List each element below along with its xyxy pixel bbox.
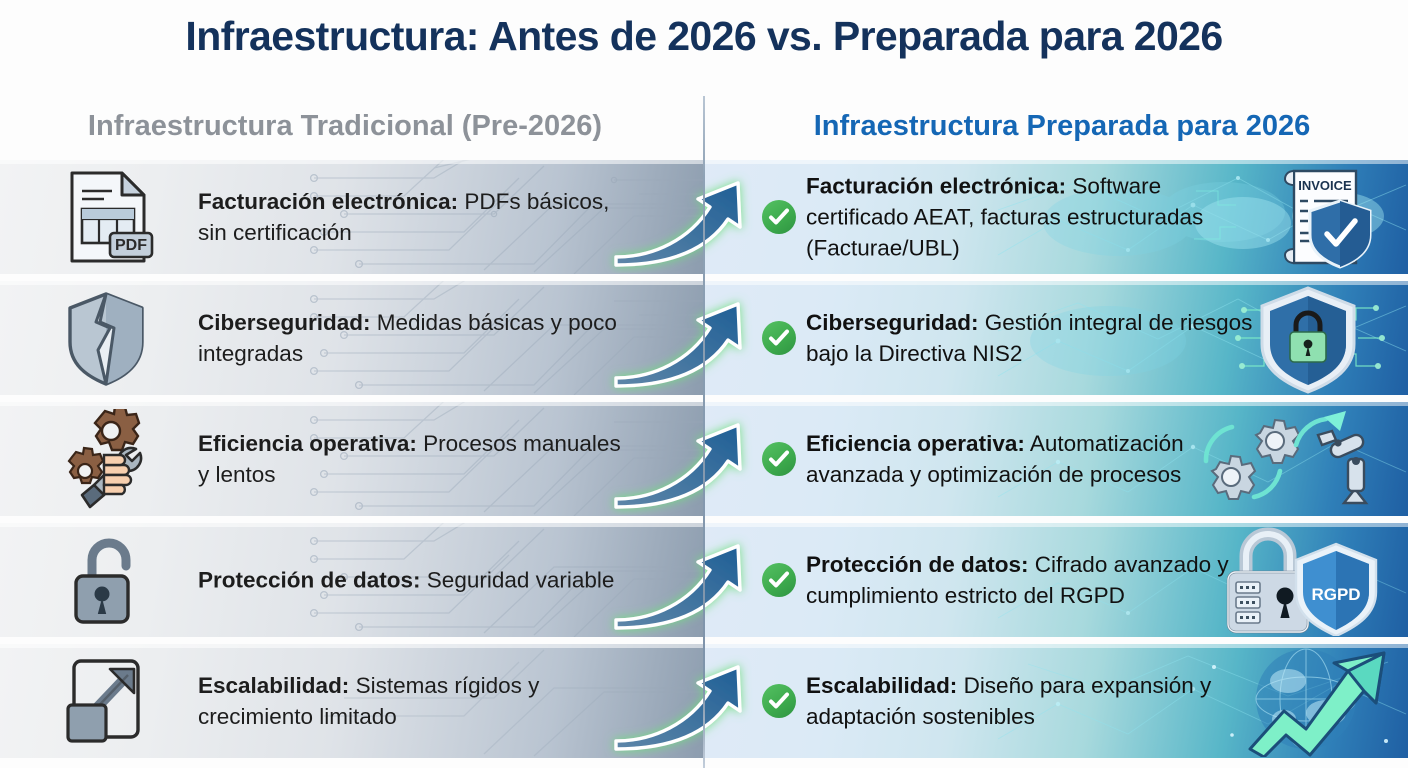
cracked-shield-icon	[54, 288, 158, 388]
check-icon	[762, 200, 796, 234]
right-row-text: Eficiencia operativa: Automatización ava…	[806, 428, 1256, 490]
right-row-label: Eficiencia operativa:	[806, 431, 1025, 456]
left-row-label: Protección de datos:	[198, 568, 421, 593]
invoice-label: INVOICE	[1298, 178, 1352, 193]
check-icon	[762, 442, 796, 476]
right-row-label: Ciberseguridad:	[806, 310, 979, 335]
infographic-page: Infraestructura: Antes de 2026 vs. Prepa…	[0, 0, 1408, 768]
svg-text:PDF: PDF	[115, 237, 147, 254]
column-header-traditional: Infraestructura Tradicional (Pre-2026)	[0, 100, 690, 152]
row-right-panel: Eficiencia operativa: Automatización ava…	[704, 402, 1408, 516]
check-icon	[762, 684, 796, 718]
left-row-text: Facturación electrónica: PDFs básicos, s…	[198, 186, 628, 248]
right-row-text: Protección de datos: Cifrado avanzado y …	[806, 549, 1256, 611]
left-row-text: Protección de datos: Seguridad variable	[198, 565, 628, 596]
row-right-panel: Escalabilidad: Diseño para expansión y a…	[704, 644, 1408, 758]
left-row-label: Facturación electrónica:	[198, 189, 458, 214]
page-title: Infraestructura: Antes de 2026 vs. Prepa…	[0, 8, 1408, 64]
row-right-panel: RGPD Protección de datos: Cifrado avanza…	[704, 523, 1408, 637]
right-row-text: Ciberseguridad: Gestión integral de ries…	[806, 307, 1256, 369]
check-badge	[762, 684, 796, 718]
left-row-desc: Seguridad variable	[421, 568, 615, 593]
column-header-ready: Infraestructura Preparada para 2026	[716, 100, 1408, 152]
row-right-panel: Ciberseguridad: Gestión integral de ries…	[704, 281, 1408, 395]
left-row-text: Ciberseguridad: Medidas básicas y poco i…	[198, 307, 628, 369]
left-row-label: Eficiencia operativa:	[198, 431, 417, 456]
open-padlock-icon	[54, 530, 158, 630]
row-left-panel: Eficiencia operativa: Procesos manuales …	[0, 402, 704, 516]
row-left-panel: Ciberseguridad: Medidas básicas y poco i…	[0, 281, 704, 395]
right-row-label: Protección de datos:	[806, 552, 1029, 577]
check-badge	[762, 563, 796, 597]
check-icon	[762, 563, 796, 597]
row-left-panel: Protección de datos: Seguridad variable	[0, 523, 704, 637]
left-row-label: Escalabilidad:	[198, 673, 349, 698]
check-badge	[762, 442, 796, 476]
left-row-text: Eficiencia operativa: Procesos manuales …	[198, 428, 628, 490]
rusty-gears-wrench-hand-icon	[54, 409, 158, 509]
right-row-label: Escalabilidad:	[806, 673, 957, 698]
left-row-label: Ciberseguridad:	[198, 310, 371, 335]
right-row-text: Escalabilidad: Diseño para expansión y a…	[806, 670, 1256, 732]
check-icon	[762, 321, 796, 355]
left-row-text: Escalabilidad: Sistemas rígidos y crecim…	[198, 670, 628, 732]
row-left-panel: Escalabilidad: Sistemas rígidos y crecim…	[0, 644, 704, 758]
right-row-text: Facturación electrónica: Software certif…	[806, 171, 1256, 264]
center-divider	[703, 96, 705, 768]
row-right-panel: INVOICE Facturación electrónica: Softwar…	[704, 160, 1408, 274]
right-row-label: Facturación electrónica:	[806, 174, 1066, 199]
check-badge	[762, 200, 796, 234]
rgpd-label: RGPD	[1311, 585, 1360, 604]
pdf-document-icon: PDF	[54, 167, 158, 267]
expand-arrow-box-icon	[54, 651, 158, 751]
row-left-panel: PDF Facturación electrónica: PDFs básico…	[0, 160, 704, 274]
check-badge	[762, 321, 796, 355]
